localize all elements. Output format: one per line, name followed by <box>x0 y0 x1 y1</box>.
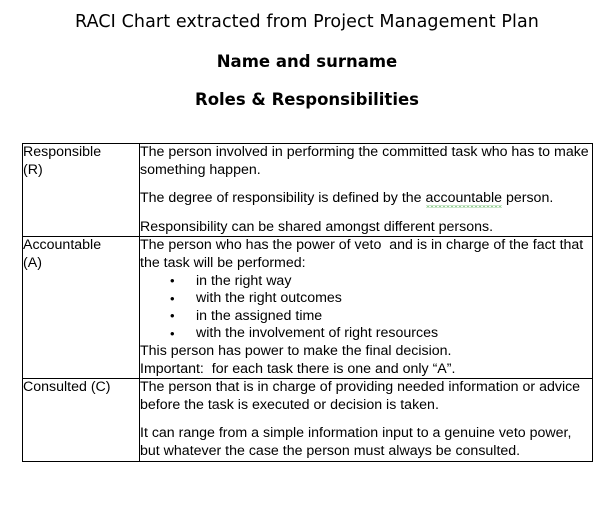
table-row: Responsible (R) The person involved in p… <box>23 144 593 237</box>
paragraph-text-before: The degree of responsibility is defined … <box>140 190 426 206</box>
document-subtitle-name: Name and surname <box>0 33 614 72</box>
paragraph: The person that is in charge of providin… <box>140 379 592 414</box>
list-item: with the right outcomes <box>140 290 592 308</box>
role-cell-consulted: Consulted (C) <box>23 379 140 461</box>
paragraph-closing: This person has power to make the final … <box>140 343 592 361</box>
bullet-list: in the right way with the right outcomes… <box>140 273 592 343</box>
paragraph-important: Important: for each task there is one an… <box>140 361 592 379</box>
paragraph-with-grammar-flag: The degree of responsibility is defined … <box>140 190 592 208</box>
description-cell-consulted: The person that is in charge of providin… <box>140 379 593 461</box>
document-title: RACI Chart extracted from Project Manage… <box>0 0 614 33</box>
paragraph: Responsibility can be shared amongst dif… <box>140 219 592 237</box>
raci-table: Responsible (R) The person involved in p… <box>22 143 593 462</box>
grammar-flagged-word: accountable <box>426 190 503 208</box>
role-label: Accountable (A) <box>23 237 139 272</box>
paragraph-text-after: person. <box>502 190 553 206</box>
paragraph: The person involved in performing the co… <box>140 144 592 179</box>
role-cell-accountable: Accountable (A) <box>23 237 140 379</box>
paragraph-intro: The person who has the power of veto and… <box>140 237 592 272</box>
role-cell-responsible: Responsible (R) <box>23 144 140 237</box>
list-item: in the right way <box>140 273 592 291</box>
description-cell-accountable: The person who has the power of veto and… <box>140 237 593 379</box>
paragraph: It can range from a simple information i… <box>140 425 592 460</box>
table-row: Accountable (A) The person who has the p… <box>23 237 593 379</box>
list-item: in the assigned time <box>140 308 592 326</box>
table-row: Consulted (C) The person that is in char… <box>23 379 593 461</box>
description-cell-responsible: The person involved in performing the co… <box>140 144 593 237</box>
role-label: Consulted (C) <box>23 379 139 397</box>
document-subtitle-roles: Roles & Responsibilities <box>0 72 614 110</box>
role-label: Responsible (R) <box>23 144 139 179</box>
list-item: with the involvement of right resources <box>140 325 592 343</box>
